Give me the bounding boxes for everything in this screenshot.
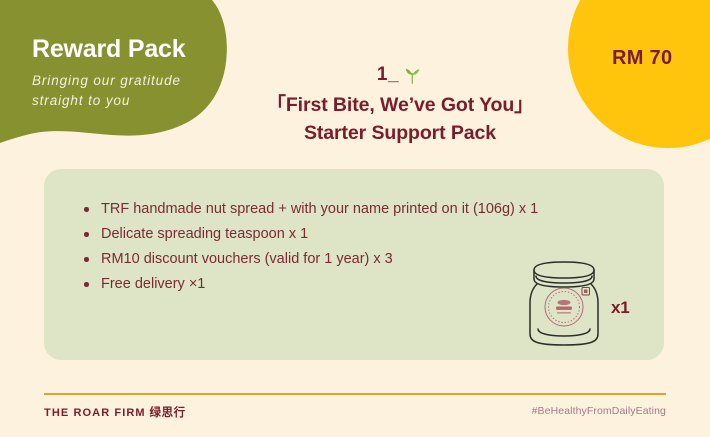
footer-divider (44, 393, 666, 395)
page-title: Reward Pack (32, 35, 185, 64)
header-blob-text: Reward Pack Bringing our gratitude strai… (0, 0, 232, 148)
list-item: TRF handmade nut spread + with your name… (80, 197, 538, 222)
hashtag: #BeHealthyFromDailyEating (532, 405, 666, 417)
list-item: Free delivery ×1 (80, 272, 538, 297)
brand-name: THE ROAR FIRM 绿思行 (44, 404, 186, 420)
reward-pack-card: Reward Pack Bringing our gratitude strai… (0, 0, 710, 437)
mason-jar-icon (521, 257, 607, 349)
list-item: Delicate spreading teaspoon x 1 (80, 222, 538, 247)
brand-name-en: THE ROAR FIRM (44, 407, 146, 419)
seedling-icon (401, 64, 423, 86)
headline-index: 1_ (377, 64, 399, 86)
headline-group: 1_ 「First Bite, We’ve Got You」 Starter S… (232, 62, 568, 147)
headline-main: 「First Bite, We’ve Got You」 (232, 91, 568, 119)
price-amount: RM 70 (612, 47, 672, 70)
header-blob: Reward Pack Bringing our gratitude strai… (0, 0, 232, 148)
jar-quantity: x1 (611, 298, 630, 318)
brand-name-cn-text: 绿思行 (149, 407, 185, 419)
price-badge (568, 0, 710, 148)
list-item: RM10 discount vouchers (valid for 1 year… (80, 247, 538, 272)
headline-index-row: 1_ (232, 62, 568, 88)
page-subtitle: Bringing our gratitude straight to you (32, 71, 222, 111)
headline-sub: Starter Support Pack (232, 119, 568, 147)
contents-list: TRF handmade nut spread + with your name… (80, 197, 538, 297)
